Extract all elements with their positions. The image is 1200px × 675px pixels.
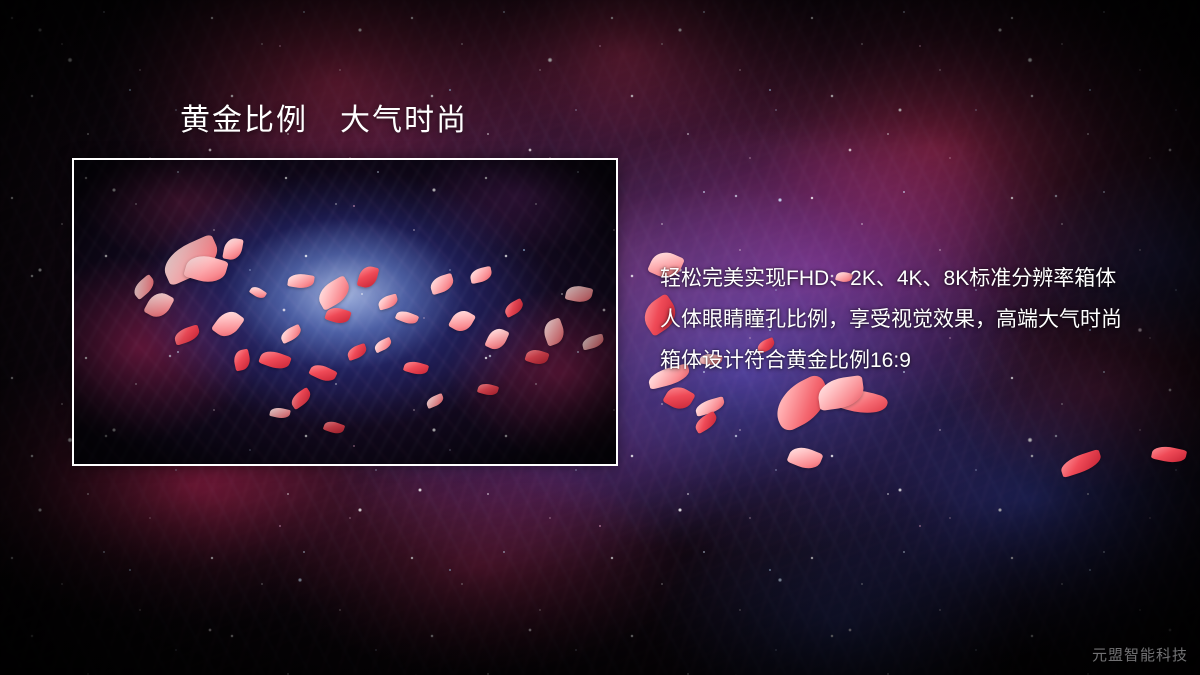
slide-canvas: 黄金比例 大气时尚 轻松完美实现FHD、2K、4K、8K标准分辨率箱体 人体眼睛… (0, 0, 1200, 675)
slide-title: 黄金比例 大气时尚 (180, 103, 468, 139)
panel-vignette (74, 160, 616, 464)
body-text-line-2: 人体眼睛瞳孔比例，享受视觉效果，高端大气时尚 (660, 299, 1180, 340)
body-text-block: 轻松完美实现FHD、2K、4K、8K标准分辨率箱体 人体眼睛瞳孔比例，享受视觉效… (660, 258, 1180, 381)
rose-petal (662, 382, 696, 414)
rose-petal (1151, 444, 1187, 466)
body-text-line-3: 箱体设计符合黄金比例16:9 (660, 340, 1180, 381)
watermark: 元盟智能科技 (1092, 644, 1188, 665)
rose-petal (786, 443, 823, 474)
panel-image (74, 160, 616, 464)
rose-petal (1058, 449, 1103, 478)
body-text-line-1: 轻松完美实现FHD、2K、4K、8K标准分辨率箱体 (660, 258, 1180, 299)
framed-image-panel (72, 158, 618, 466)
